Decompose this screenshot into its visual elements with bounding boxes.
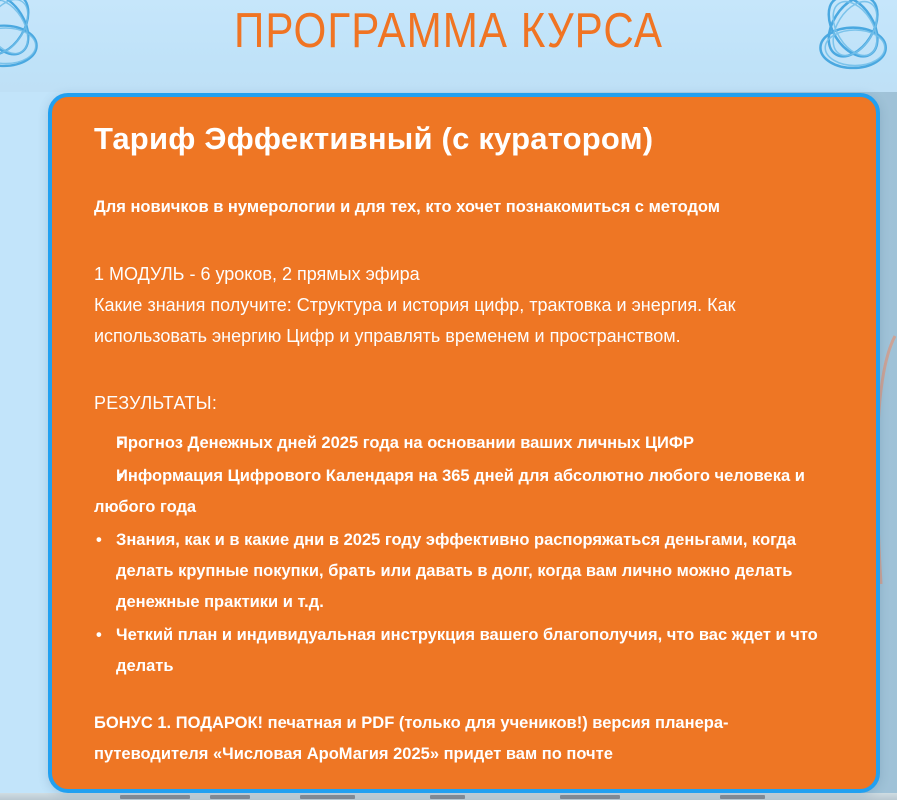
page-header: ПРОГРАММА КУРСА [0,0,897,92]
result-bullet-text: Знания, как и в какие дни в 2025 году эф… [116,531,796,611]
module-line-2: Какие знания получите: Структура и истор… [94,290,836,352]
bonus-text: БОНУС 1. ПОДАРОК! печатная и PDF (только… [94,708,836,770]
page-title: ПРОГРАММА КУРСА [63,3,834,59]
bullet-dot-icon: • [96,428,124,459]
result-bullet-item: •Информация Цифрового Календаря на 365 д… [94,461,836,523]
results-heading: РЕЗУЛЬТАТЫ: [94,390,836,416]
result-bullet-item: •Четкий план и индивидуальная инструкция… [94,620,836,682]
bullet-dot-icon: • [96,525,102,556]
tariff-card-content: Тариф Эффективный (с куратором) Для нови… [52,97,876,770]
module-line-1: 1 МОДУЛЬ - 6 уроков, 2 прямых эфира [94,259,836,290]
result-bullet-text: Информация Цифрового Календаря на 365 дн… [94,467,805,516]
bullet-dot-icon: • [96,461,124,492]
course-program-page: ПРОГРАММА КУРСА [0,0,897,800]
result-bullet-text: Четкий план и индивидуальная инструкция … [116,626,818,675]
results-bullet-list: •Прогноз Денежных дней 2025 года на осно… [94,428,836,682]
tariff-card: Тариф Эффективный (с куратором) Для нови… [48,93,880,793]
bullet-dot-icon: • [96,620,102,651]
tariff-title: Тариф Эффективный (с куратором) [94,119,836,159]
tariff-subtitle: Для новичков в нумерологии и для тех, кт… [94,195,836,219]
bottom-page-sliver [0,793,897,800]
result-bullet-item: •Знания, как и в какие дни в 2025 году э… [94,525,836,618]
module-description: 1 МОДУЛЬ - 6 уроков, 2 прямых эфира Каки… [94,259,836,352]
result-bullet-text: Прогноз Денежных дней 2025 года на основ… [116,434,694,452]
result-bullet-item: •Прогноз Денежных дней 2025 года на осно… [94,428,836,459]
